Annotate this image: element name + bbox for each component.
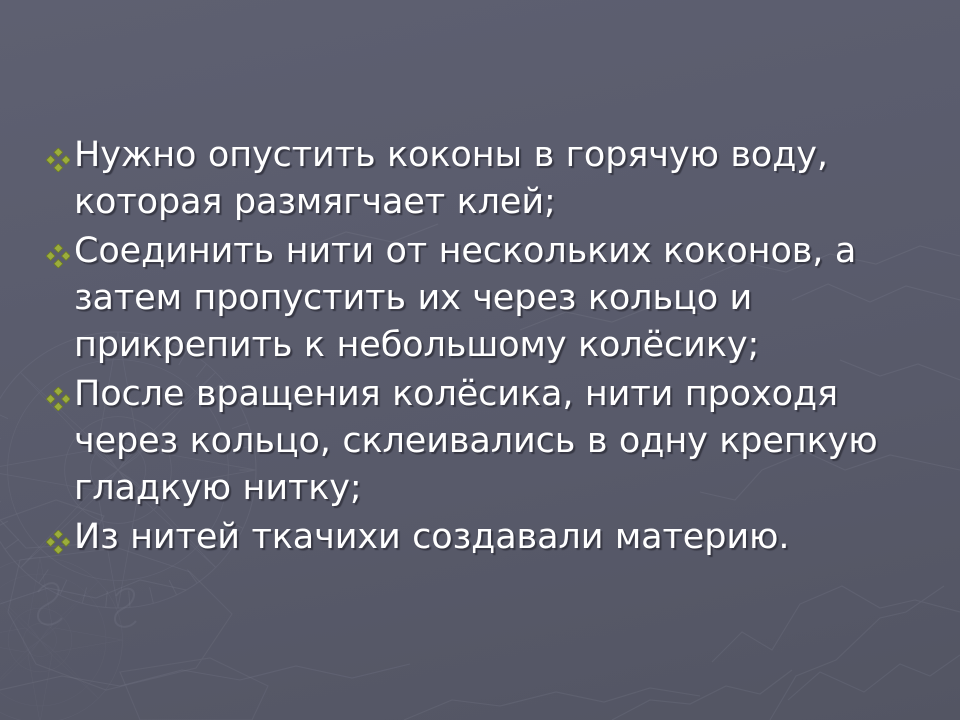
presentation-slide: Нужно опустить коконы в горячую воду, ко… — [0, 0, 960, 720]
diamond-cluster-bullet-icon — [44, 373, 74, 419]
list-item-text: Соединить нити от нескольких коконов, а … — [74, 228, 928, 369]
list-item-text: Нужно опустить коконы в горячую воду, ко… — [74, 132, 928, 226]
list-item: После вращения колёсика, нити проходя че… — [44, 371, 928, 512]
list-item-text: После вращения колёсика, нити проходя че… — [74, 371, 928, 512]
slide-bullet-list: Нужно опустить коконы в горячую воду, ко… — [44, 132, 928, 564]
diamond-cluster-bullet-icon — [44, 134, 74, 180]
list-item: Нужно опустить коконы в горячую воду, ко… — [44, 132, 928, 226]
list-item: Из нитей ткачихи создавали материю. — [44, 514, 928, 562]
list-item-text: Из нитей ткачихи создавали материю. — [74, 514, 928, 561]
diamond-cluster-bullet-icon — [44, 516, 74, 562]
diamond-cluster-bullet-icon — [44, 230, 74, 276]
list-item: Соединить нити от нескольких коконов, а … — [44, 228, 928, 369]
